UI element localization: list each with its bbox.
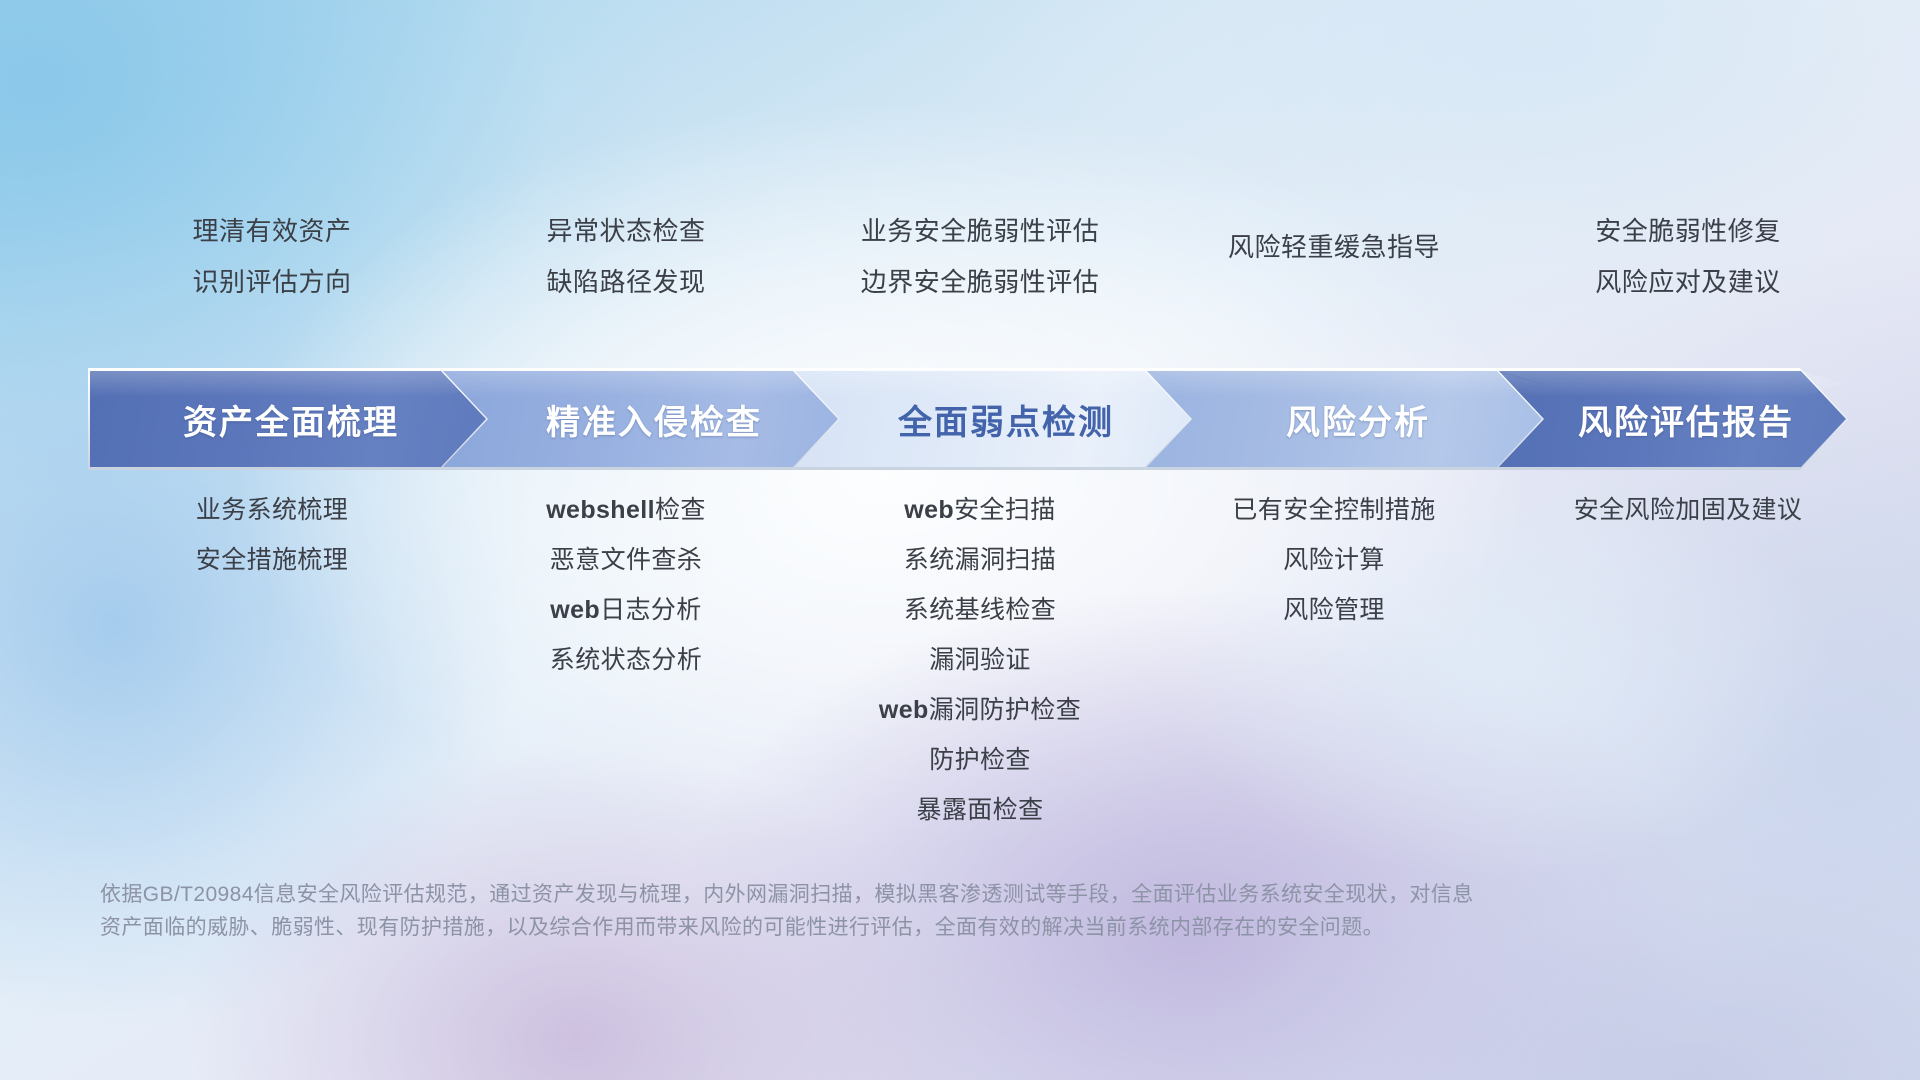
bottom-items-row: 业务系统梳理安全措施梳理 webshell检查恶意文件查杀web日志分析系统状态… <box>95 498 1865 823</box>
bottom-item: web漏洞防护检查 <box>803 698 1157 723</box>
bottom-item: 安全风险加固及建议 <box>1511 498 1865 523</box>
chevron-sheen <box>442 371 838 397</box>
bottom-item: 系统状态分析 <box>449 648 803 673</box>
bottom-item: web安全扫描 <box>803 498 1157 523</box>
top-label: 边界安全脆弱性评估 <box>803 269 1157 295</box>
top-labels-row: 理清有效资产 识别评估方向 异常状态检查 缺陷路径发现 业务安全脆弱性评估 边界… <box>95 218 1865 348</box>
top-label: 风险轻重缓急指导 <box>1157 234 1511 260</box>
bottom-item: 系统基线检查 <box>803 598 1157 623</box>
top-label: 理清有效资产 <box>95 218 449 244</box>
bottom-item: 系统漏洞扫描 <box>803 548 1157 573</box>
bottom-item: 暴露面检查 <box>803 798 1157 823</box>
top-label: 业务安全脆弱性评估 <box>803 218 1157 244</box>
chevron-sheen <box>1498 371 1846 397</box>
bottom-items-stage-1: 业务系统梳理安全措施梳理 <box>95 498 449 823</box>
chevron-sheen <box>90 371 486 397</box>
chevron-stage-3[interactable]: 全面弱点检测 <box>792 368 1192 470</box>
chevron-stage-1[interactable]: 资产全面梳理 <box>88 368 488 470</box>
chevron-stage-5[interactable]: 风险评估报告 <box>1496 368 1848 470</box>
bottom-item: 漏洞验证 <box>803 648 1157 673</box>
top-labels-stage-3: 业务安全脆弱性评估 边界安全脆弱性评估 <box>803 218 1157 348</box>
bottom-item: 风险管理 <box>1157 598 1511 623</box>
chevron-stage-2[interactable]: 精准入侵检查 <box>440 368 840 470</box>
chevron-sheen <box>794 371 1190 397</box>
bottom-item: 安全措施梳理 <box>95 548 449 573</box>
process-chevron-banner: 资产全面梳理精准入侵检查全面弱点检测风险分析风险评估报告 <box>88 368 1848 470</box>
bottom-item: 防护检查 <box>803 748 1157 773</box>
bottom-items-stage-5: 安全风险加固及建议 <box>1511 498 1865 823</box>
bottom-item: web日志分析 <box>449 598 803 623</box>
top-label: 识别评估方向 <box>95 269 449 295</box>
top-label: 缺陷路径发现 <box>449 269 803 295</box>
bottom-items-stage-3: web安全扫描系统漏洞扫描系统基线检查漏洞验证web漏洞防护检查防护检查暴露面检… <box>803 498 1157 823</box>
chevron-label: 精准入侵检查 <box>540 395 762 444</box>
chevron-label: 资产全面梳理 <box>177 395 399 444</box>
bottom-item: webshell检查 <box>449 498 803 523</box>
chevron-stage-4[interactable]: 风险分析 <box>1144 368 1544 470</box>
footer-line-1: 依据GB/T20984信息安全风险评估规范，通过资产发现与梳理，内外网漏洞扫描，… <box>100 878 1660 911</box>
chevron-label: 全面弱点检测 <box>892 395 1114 444</box>
footer-line-2: 资产面临的威胁、脆弱性、现有防护措施，以及综合作用而带来风险的可能性进行评估，全… <box>100 911 1660 944</box>
bottom-item: 恶意文件查杀 <box>449 548 803 573</box>
chevron-sheen <box>1146 371 1542 397</box>
bottom-item: 风险计算 <box>1157 548 1511 573</box>
bottom-items-stage-2: webshell检查恶意文件查杀web日志分析系统状态分析 <box>449 498 803 823</box>
top-label: 风险应对及建议 <box>1511 269 1865 295</box>
top-labels-stage-5: 安全脆弱性修复 风险应对及建议 <box>1511 218 1865 348</box>
top-labels-stage-2: 异常状态检查 缺陷路径发现 <box>449 218 803 348</box>
bottom-item: 业务系统梳理 <box>95 498 449 523</box>
bottom-item: 已有安全控制措施 <box>1157 498 1511 523</box>
footer-description: 依据GB/T20984信息安全风险评估规范，通过资产发现与梳理，内外网漏洞扫描，… <box>100 878 1660 944</box>
top-label: 异常状态检查 <box>449 218 803 244</box>
bottom-items-stage-4: 已有安全控制措施风险计算风险管理 <box>1157 498 1511 823</box>
top-labels-stage-4: 风险轻重缓急指导 <box>1157 218 1511 348</box>
chevron-label: 风险评估报告 <box>1572 395 1794 444</box>
top-labels-stage-1: 理清有效资产 识别评估方向 <box>95 218 449 348</box>
top-label: 安全脆弱性修复 <box>1511 218 1865 244</box>
chevron-label: 风险分析 <box>1280 395 1430 444</box>
